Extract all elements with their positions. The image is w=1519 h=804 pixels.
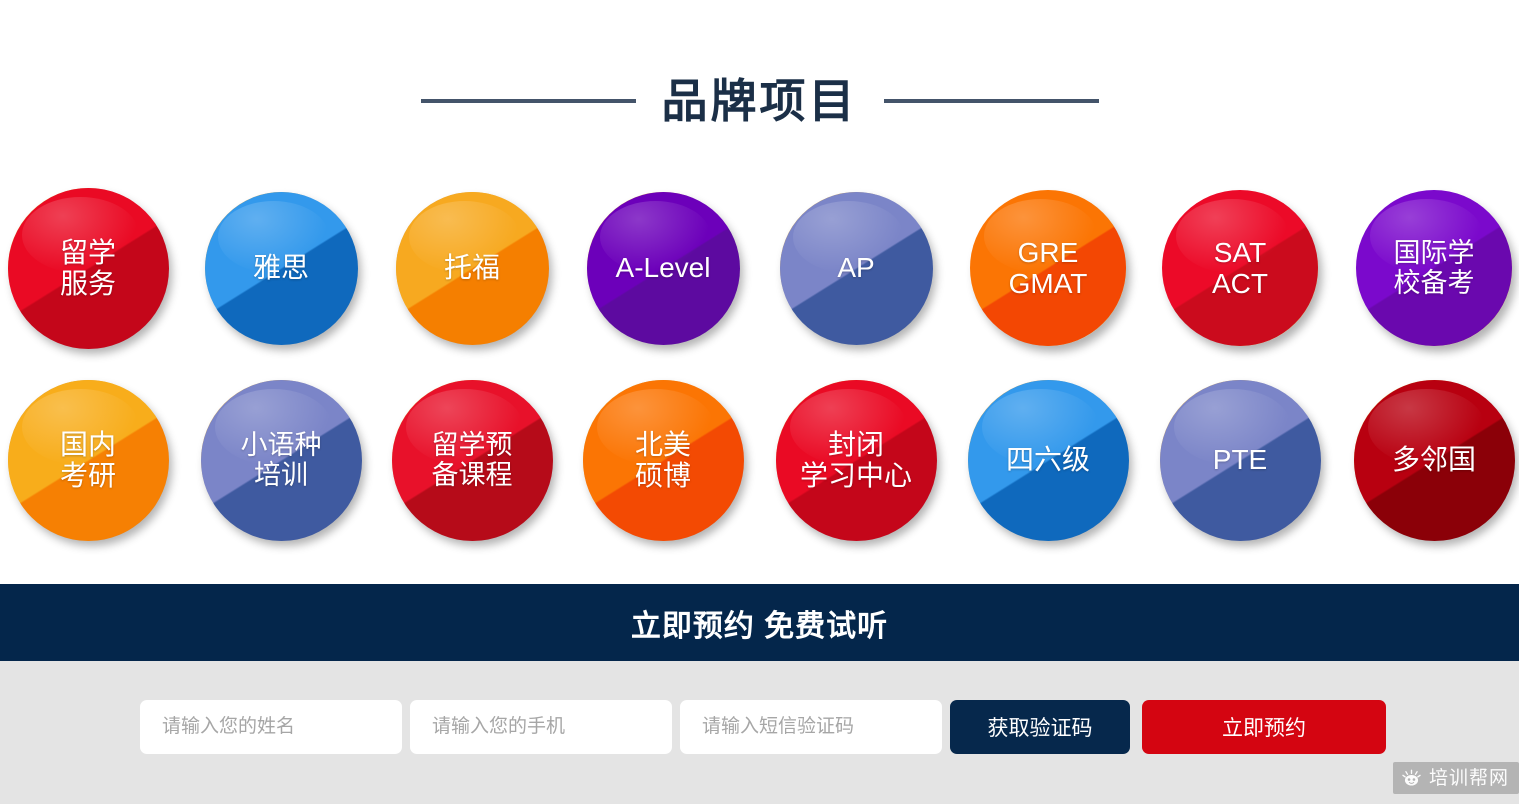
program-circle[interactable]: 多邻国 — [1354, 380, 1514, 540]
program-circle[interactable]: GRE GMAT — [971, 191, 1126, 346]
section-header: 品牌项目 — [0, 62, 1519, 140]
program-circle-label: GRE GMAT — [1009, 237, 1088, 300]
program-circle-label: A-Level — [616, 252, 711, 283]
program-circle[interactable]: 封闭 学习中心 — [776, 380, 936, 540]
program-circle-label: 雅思 — [253, 252, 309, 283]
program-circle-label: PTE — [1213, 444, 1267, 475]
program-row-1: 留学 服务雅思托福A-LevelAPGRE GMATSAT ACT国际学 校备考 — [0, 168, 1519, 368]
booking-banner-title: 立即预约 免费试听 — [631, 601, 888, 645]
site-watermark: 培训帮网 — [1393, 762, 1519, 794]
program-circle[interactable]: 雅思 — [205, 192, 357, 344]
program-circle-label: 托福 — [444, 252, 500, 283]
program-circle[interactable]: PTE — [1160, 380, 1320, 540]
program-circle-label: 国际学 校备考 — [1394, 238, 1475, 298]
program-circle[interactable]: 国内 考研 — [8, 380, 168, 540]
watermark-label: 培训帮网 — [1429, 769, 1509, 788]
program-circle-label: 多邻国 — [1392, 444, 1476, 475]
program-circle[interactable]: 北美 硕博 — [583, 380, 743, 540]
program-circle-label: AP — [837, 252, 874, 283]
program-circle[interactable]: 托福 — [396, 192, 548, 344]
title-rule-left — [421, 99, 636, 103]
program-circle-label: 北美 硕博 — [635, 429, 691, 492]
program-circles-grid: 留学 服务雅思托福A-LevelAPGRE GMATSAT ACT国际学 校备考… — [0, 168, 1519, 568]
submit-booking-button[interactable]: 立即预约 — [1142, 700, 1386, 754]
program-circle[interactable]: 国际学 校备考 — [1357, 191, 1512, 346]
program-circle-label: 四六级 — [1006, 444, 1090, 475]
program-circle[interactable]: 小语种 培训 — [201, 380, 361, 540]
phone-input[interactable] — [410, 700, 672, 754]
program-circle[interactable]: AP — [780, 192, 932, 344]
get-sms-code-button[interactable]: 获取验证码 — [950, 700, 1130, 754]
name-input[interactable] — [140, 700, 402, 754]
program-circle[interactable]: SAT ACT — [1163, 191, 1318, 346]
sms-code-input[interactable] — [680, 700, 942, 754]
booking-form: 获取验证码 立即预约 — [140, 700, 1386, 754]
program-circle-label: 留学预 备课程 — [432, 430, 513, 490]
program-circle[interactable]: A-Level — [587, 192, 739, 344]
program-circle-label: 小语种 培训 — [241, 430, 322, 490]
program-circle-label: 国内 考研 — [60, 429, 116, 492]
program-circle[interactable]: 留学 服务 — [8, 188, 168, 348]
page-title: 品牌项目 — [662, 78, 858, 124]
title-rule-right — [884, 99, 1099, 103]
program-circle[interactable]: 四六级 — [968, 380, 1128, 540]
booking-form-strip: 获取验证码 立即预约 — [0, 661, 1519, 804]
program-circle-label: 封闭 学习中心 — [800, 429, 912, 492]
program-circle-label: 留学 服务 — [60, 237, 116, 300]
booking-banner: 立即预约 免费试听 — [0, 584, 1519, 661]
program-row-2: 国内 考研小语种 培训留学预 备课程北美 硕博封闭 学习中心四六级PTE多邻国 — [0, 360, 1519, 560]
program-circle[interactable]: 留学预 备课程 — [392, 380, 552, 540]
program-circle-label: SAT ACT — [1212, 237, 1268, 300]
sun-face-icon — [1401, 768, 1422, 789]
